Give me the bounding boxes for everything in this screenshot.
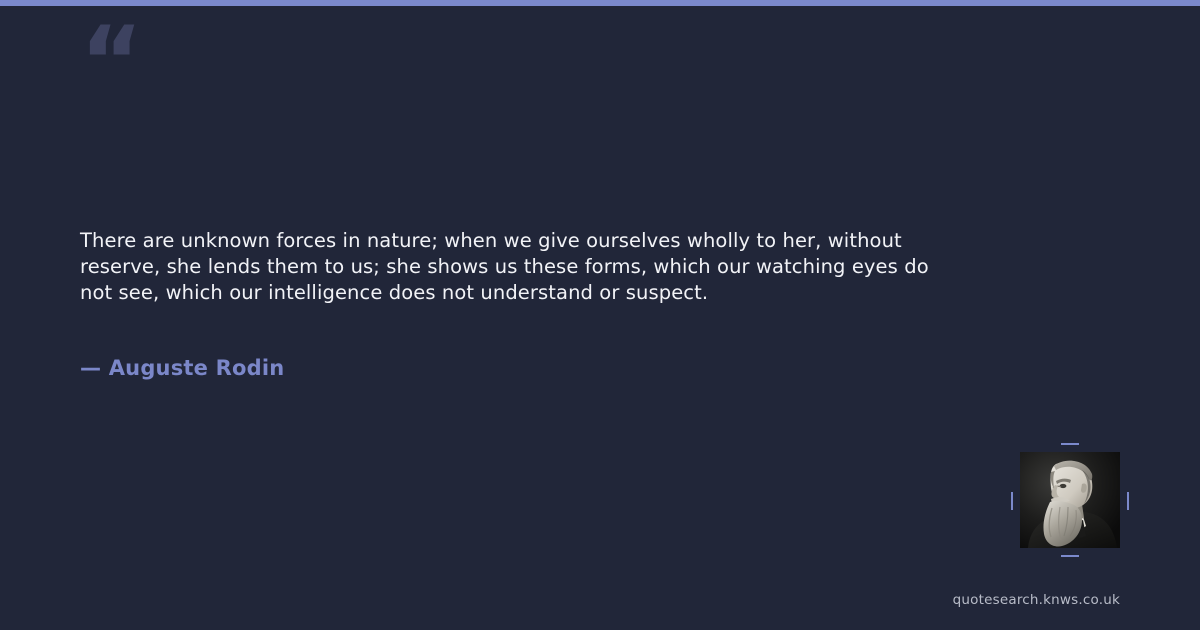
top-accent-bar <box>0 0 1200 6</box>
author-portrait-image <box>1020 452 1120 548</box>
frame-tick-bottom-icon <box>1061 555 1079 557</box>
quotation-mark-icon: “ <box>80 14 141 110</box>
quote-text-block: There are unknown forces in nature; when… <box>80 228 960 305</box>
frame-tick-top-icon <box>1061 443 1079 445</box>
quote-author: — Auguste Rodin <box>80 354 284 382</box>
frame-tick-left-icon <box>1011 492 1013 510</box>
author-portrait-frame <box>1020 452 1120 548</box>
quote-card: “ There are unknown forces in nature; wh… <box>0 0 1200 630</box>
source-site-url: quotesearch.knws.co.uk <box>953 591 1120 609</box>
quote-text: There are unknown forces in nature; when… <box>80 228 960 305</box>
frame-tick-right-icon <box>1127 492 1129 510</box>
